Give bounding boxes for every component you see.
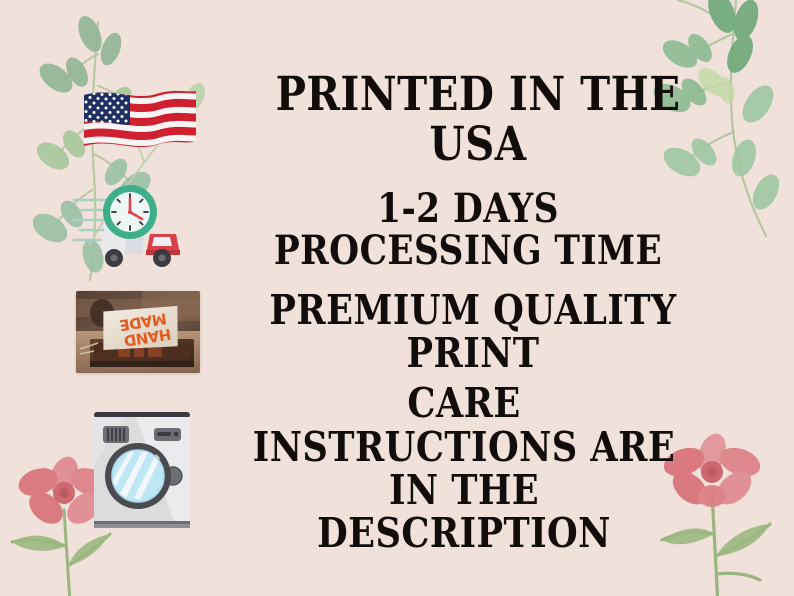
feature-label: CARE INSTRUCTIONS ARE IN THE DESCRIPTION	[249, 382, 679, 556]
washing-machine-icon	[86, 404, 198, 534]
fast-delivery-truck-clock-icon	[72, 182, 200, 278]
feature-row-processing-time: 1-2 DAYS PROCESSING TIME	[0, 180, 794, 280]
screen-printing-handmade-photo: HAND MADE	[76, 291, 200, 373]
feature-row-premium-quality: HAND MADE PREMIUM QUALITY PRINT	[0, 286, 794, 378]
feature-label: 1-2 DAYS PROCESSING TIME	[244, 188, 691, 273]
feature-label: PREMIUM QUALITY PRINT	[254, 289, 693, 376]
photo-frame: HAND MADE	[76, 291, 200, 373]
feature-label: PRINTED IN THE USA	[254, 70, 701, 170]
usa-flag-icon	[80, 83, 200, 157]
feature-row-printed-in-usa: PRINTED IN THE USA	[0, 78, 794, 162]
info-graphic-canvas: PRINTED IN THE USA	[0, 0, 794, 596]
feature-row-care-instructions: CARE INSTRUCTIONS ARE IN THE DESCRIPTION	[0, 396, 794, 542]
